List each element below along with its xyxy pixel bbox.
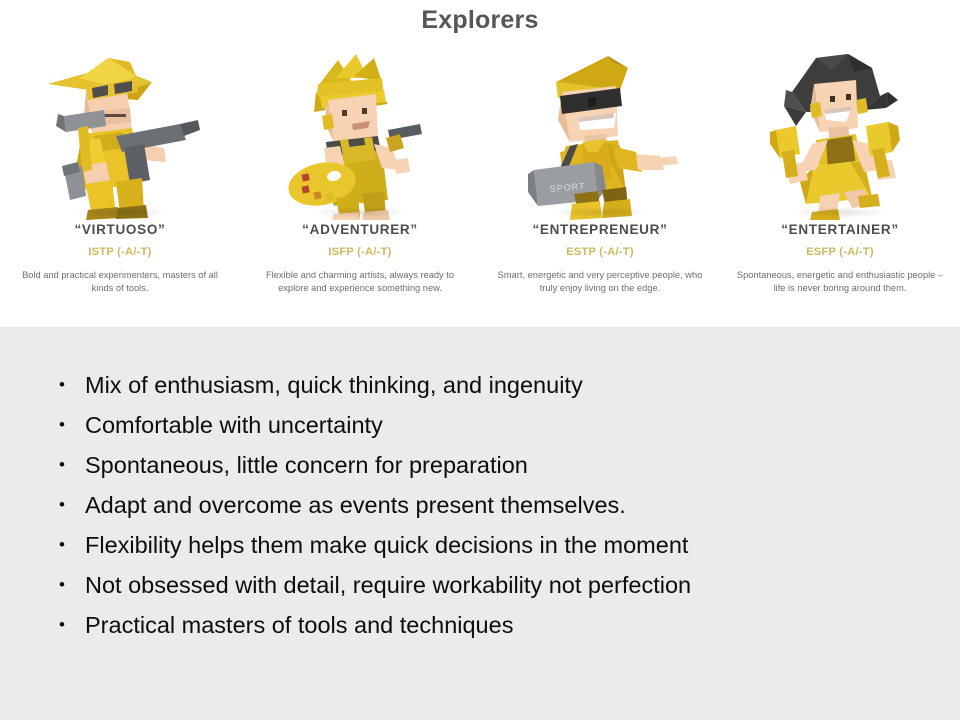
type-description: Bold and practical experimenters, master… [11,269,229,295]
entrepreneur-figure: SPORT [500,48,700,220]
personality-card-entrepreneur: SPORT “ENTREPRENEUR” ESTP (-A/-T) Smart,… [480,48,720,323]
type-name: “ADVENTURER” [302,222,418,237]
virtuoso-figure [20,48,220,220]
list-item: • Adapt and overcome as events present t… [52,488,932,528]
bullet-marker-icon: • [52,528,85,562]
list-item: • Flexibility helps them make quick deci… [52,528,932,568]
bullet-marker-icon: • [52,488,85,522]
bullet-text: Not obsessed with detail, require workab… [85,568,691,602]
type-name: “ENTERTAINER” [781,222,899,237]
bullet-text: Comfortable with uncertainty [85,408,383,442]
type-code: ESTP (-A/-T) [566,246,634,258]
type-code: ESFP (-A/-T) [806,246,874,258]
type-description: Flexible and charming artists, always re… [251,269,469,295]
page-title: Explorers [0,6,960,35]
bullet-text: Spontaneous, little concern for preparat… [85,448,528,482]
bullet-marker-icon: • [52,368,85,402]
type-description: Spontaneous, energetic and enthusiastic … [731,269,949,295]
bullet-list: • Mix of enthusiasm, quick thinking, and… [52,368,932,648]
type-code: ISTP (-A/-T) [88,246,151,258]
adventurer-figure [260,48,460,220]
bullet-text: Adapt and overcome as events present the… [85,488,626,522]
figure-shadow [552,207,648,218]
entertainer-figure [740,48,940,220]
personality-card-adventurer: “ADVENTURER” ISFP (-A/-T) Flexible and c… [240,48,480,323]
bullet-marker-icon: • [52,608,85,642]
virtuoso-illustration [20,48,220,220]
list-item: • Not obsessed with detail, require work… [52,568,932,608]
personality-type-row: “VIRTUOSO” ISTP (-A/-T) Bold and practic… [0,48,960,323]
type-name: “ENTREPRENEUR” [532,222,667,237]
entrepreneur-illustration: SPORT [500,48,700,220]
bullet-text: Practical masters of tools and technique… [85,608,513,642]
list-item: • Spontaneous, little concern for prepar… [52,448,932,488]
entertainer-illustration [740,48,940,220]
personality-card-virtuoso: “VIRTUOSO” ISTP (-A/-T) Bold and practic… [0,48,240,323]
list-item: • Practical masters of tools and techniq… [52,608,932,648]
bullet-text: Flexibility helps them make quick decisi… [85,528,688,562]
type-description: Smart, energetic and very perceptive peo… [491,269,709,295]
list-item: • Comfortable with uncertainty [52,408,932,448]
adventurer-illustration [260,48,460,220]
figure-shadow [312,207,408,218]
figure-shadow [792,207,888,218]
bullet-text: Mix of enthusiasm, quick thinking, and i… [85,368,583,402]
personality-card-entertainer: “ENTERTAINER” ESFP (-A/-T) Spontaneous, … [720,48,960,323]
type-name: “VIRTUOSO” [74,222,165,237]
bullet-marker-icon: • [52,568,85,602]
figure-shadow [72,207,168,218]
type-code: ISFP (-A/-T) [328,246,391,258]
list-item: • Mix of enthusiasm, quick thinking, and… [52,368,932,408]
bullet-marker-icon: • [52,448,85,482]
explorers-image-panel: Explorers [0,0,960,327]
bullet-marker-icon: • [52,408,85,442]
